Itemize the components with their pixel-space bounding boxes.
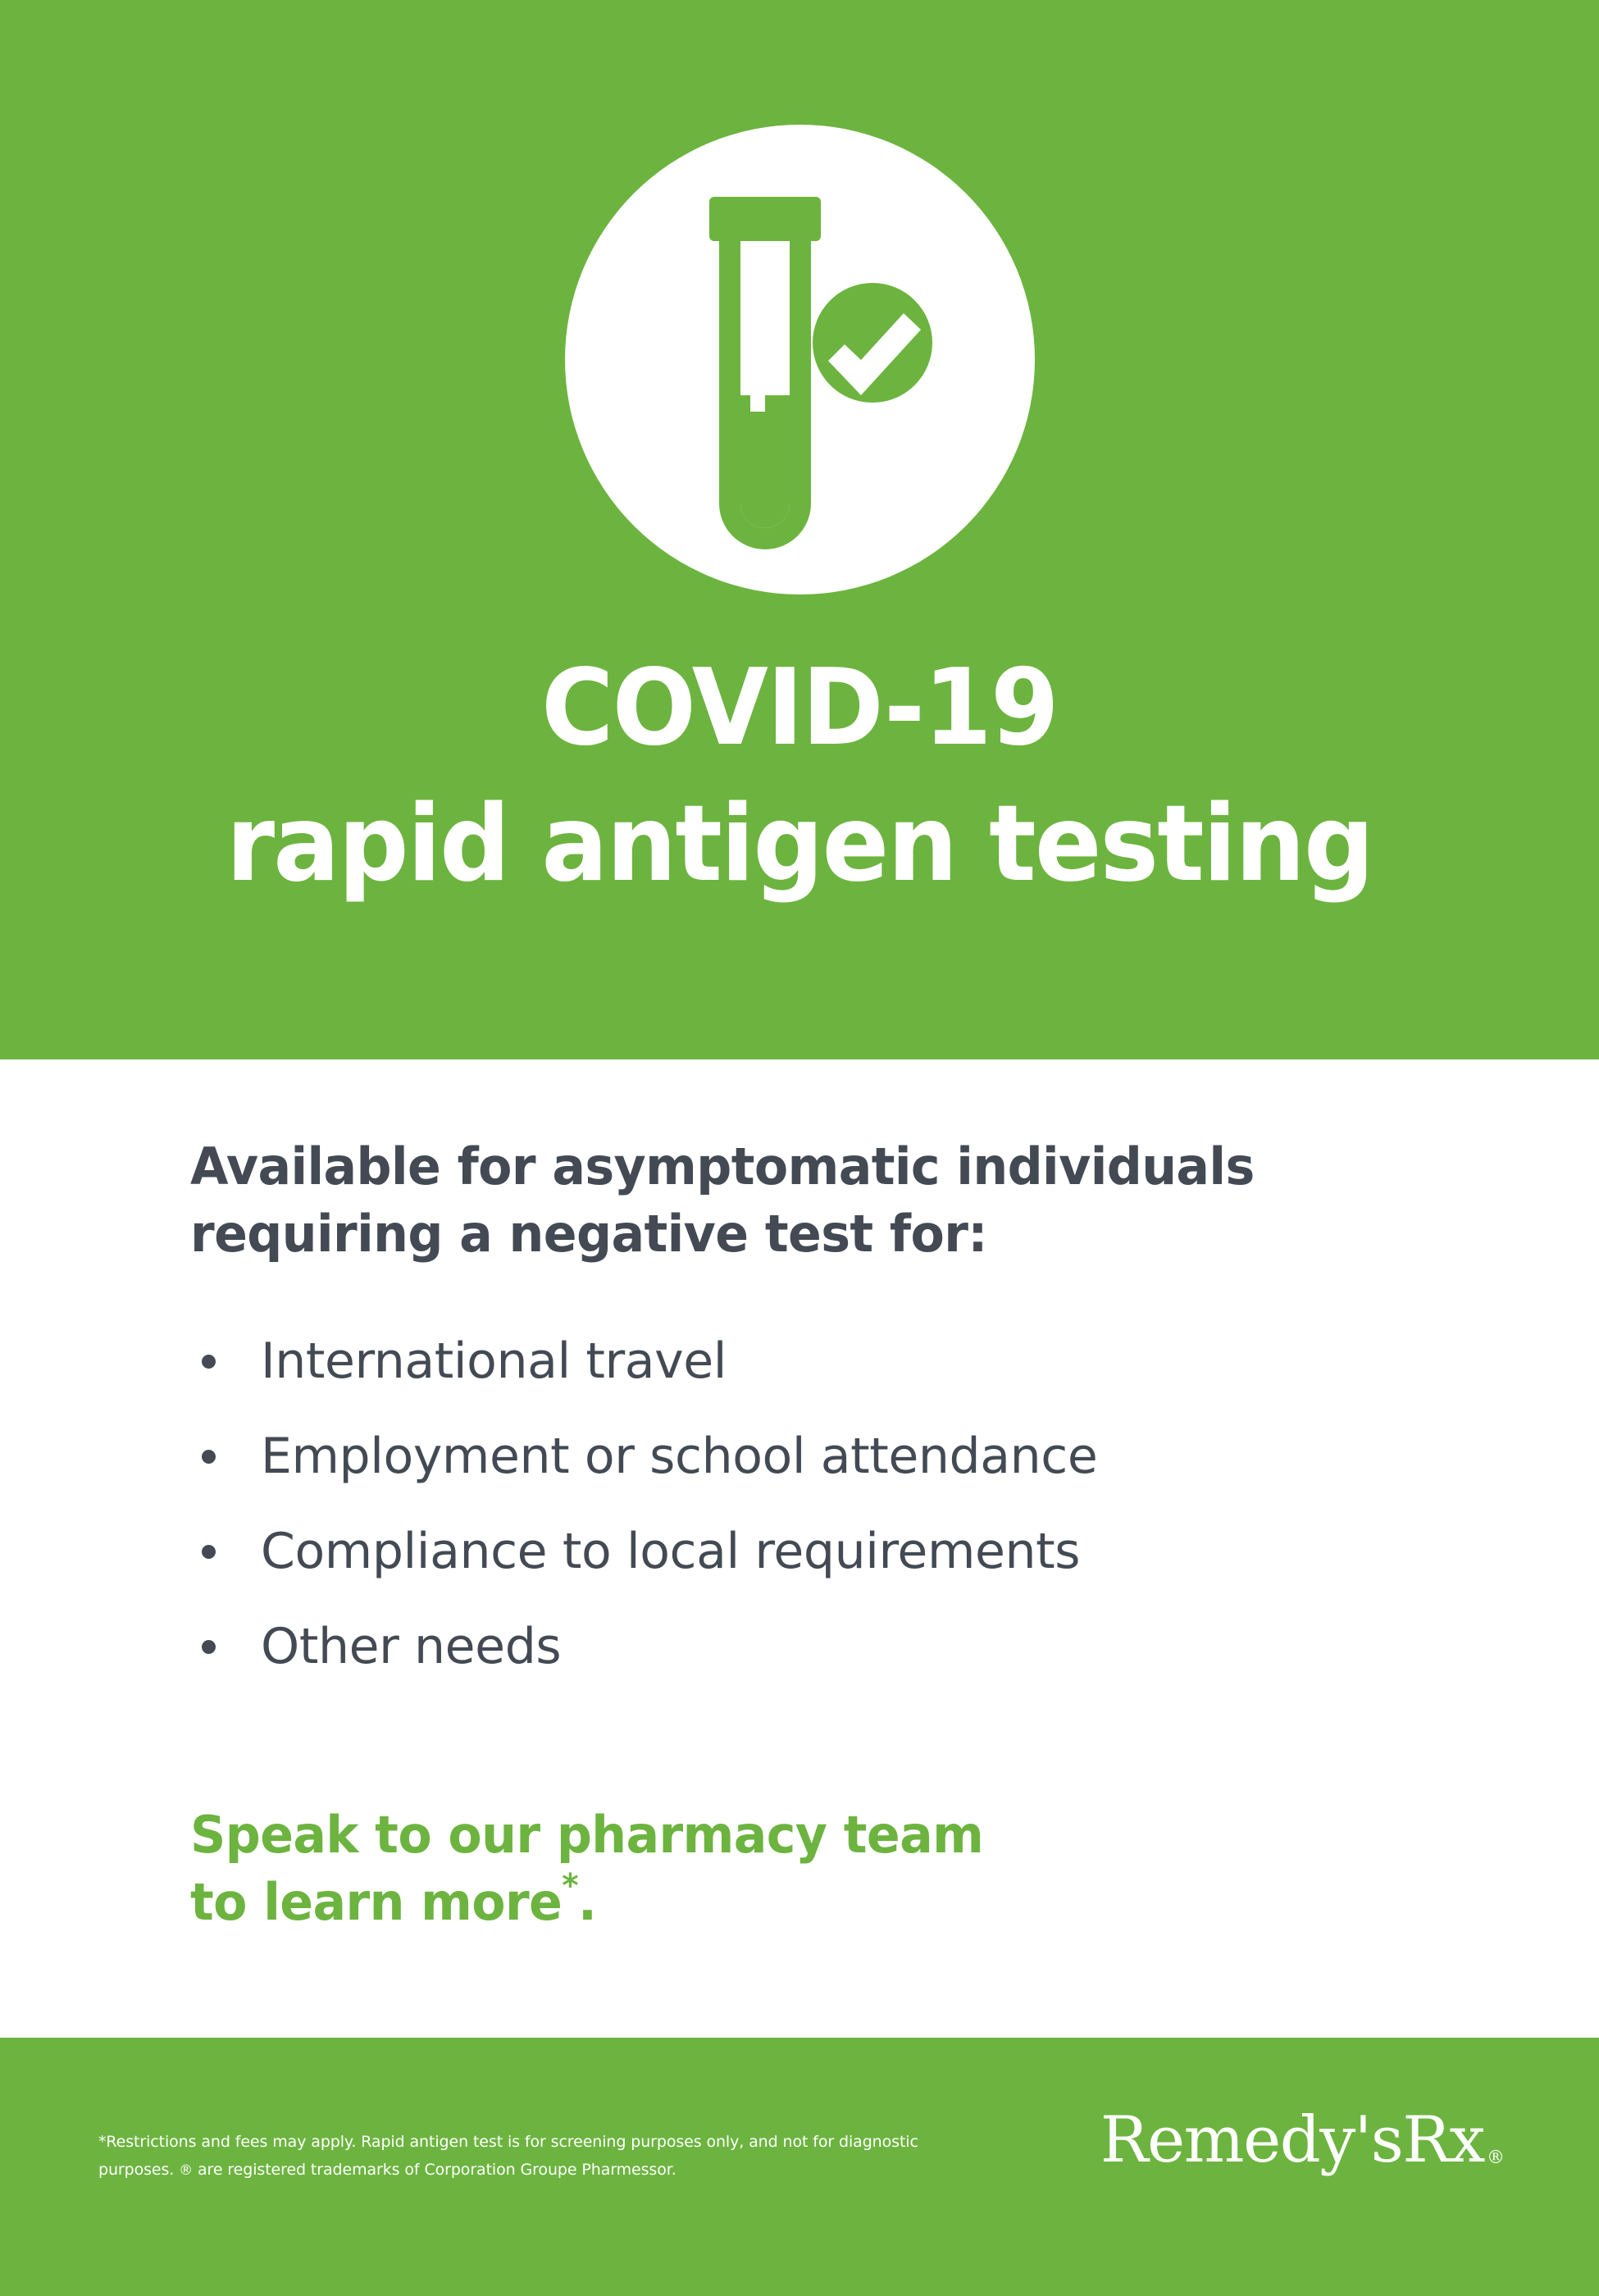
list-item: Employment or school attendance xyxy=(190,1409,1502,1504)
registered-mark-icon: ® xyxy=(179,2162,193,2179)
disclaimer-line-2: purposes. ® are registered trademarks of… xyxy=(98,2156,943,2184)
test-tube-check-icon-svg xyxy=(565,125,1035,594)
header-band: COVID-19 rapid antigen testing xyxy=(0,0,1599,1059)
test-tube-check-icon xyxy=(565,125,1035,594)
content-area: Available for asymptomatic individuals r… xyxy=(0,1059,1599,2038)
disclaimer-text: *Restrictions and fees may apply. Rapid … xyxy=(98,2128,943,2184)
list-item: International travel xyxy=(190,1314,1502,1409)
subheading: Available for asymptomatic individuals r… xyxy=(190,1133,1447,1268)
disclaimer-line-2-suffix: are registered trademarks of Corporation… xyxy=(193,2161,676,2179)
cta-line-2-text: to learn more xyxy=(190,1872,562,1932)
disclaimer-line-2-prefix: purposes. xyxy=(98,2161,179,2179)
footnote-marker: * xyxy=(562,1867,578,1905)
eligibility-list: International travel Employment or schoo… xyxy=(190,1314,1502,1694)
title-line-2: rapid antigen testing xyxy=(48,792,1551,897)
page-title: COVID-19 rapid antigen testing xyxy=(0,656,1599,897)
disclaimer-line-1: *Restrictions and fees may apply. Rapid … xyxy=(98,2128,943,2156)
cta-line-1: Speak to our pharmacy team xyxy=(190,1802,1304,1869)
list-item: Other needs xyxy=(190,1599,1502,1694)
footer-band: *Restrictions and fees may apply. Rapid … xyxy=(0,2038,1599,2296)
list-item: Compliance to local requirements xyxy=(190,1504,1502,1599)
brand-logo: Remedy'sRx® xyxy=(1100,2106,1502,2191)
cta-line-2: to learn more*. xyxy=(190,1869,1304,1936)
title-line-1: COVID-19 xyxy=(48,656,1551,761)
brand-logo-text: Remedy'sRx xyxy=(1100,2103,1484,2177)
cta-period: . xyxy=(578,1872,596,1932)
brand-registered-mark-icon: ® xyxy=(1487,2148,1505,2168)
call-to-action: Speak to our pharmacy team to learn more… xyxy=(190,1802,1304,1936)
poster-root: COVID-19 rapid antigen testing Available… xyxy=(0,0,1599,2296)
